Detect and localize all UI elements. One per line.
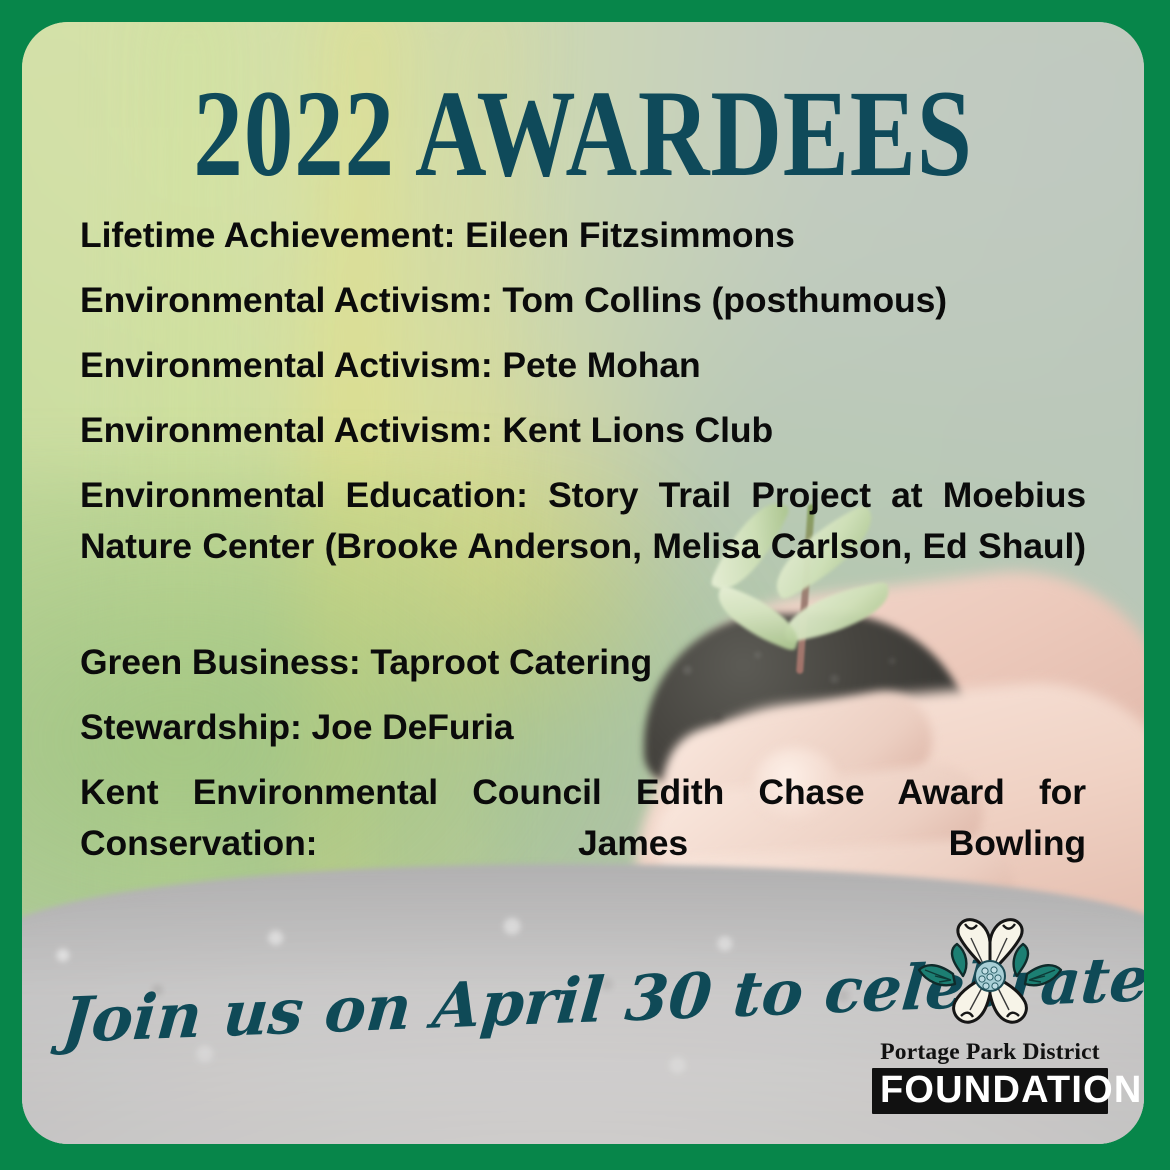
foundation-logo: Portage Park District FOUNDATION <box>872 912 1108 1114</box>
poster-content: 2022 AWARDEES Lifetime Achievement: Eile… <box>22 22 1144 1144</box>
list-item: Kent Environmental Council Edith Chase A… <box>80 767 1086 920</box>
photo-card: 2022 AWARDEES Lifetime Achievement: Eile… <box>22 22 1144 1144</box>
logo-foundation-text: FOUNDATION <box>880 1071 1100 1109</box>
dogwood-flower-icon <box>915 912 1065 1038</box>
list-item: Environmental Activism: Tom Collins (pos… <box>80 275 1086 326</box>
logo-organization-name: Portage Park District <box>872 1040 1108 1065</box>
list-item: Green Business: Taproot Catering <box>80 637 1086 688</box>
logo-foundation-bar: FOUNDATION <box>872 1068 1108 1114</box>
list-item: Stewardship: Joe DeFuria <box>80 702 1086 753</box>
awardees-poster: 2022 AWARDEES Lifetime Achievement: Eile… <box>0 0 1170 1170</box>
awardee-list: Lifetime Achievement: Eileen Fitzsimmons… <box>80 210 1086 934</box>
list-item: Lifetime Achievement: Eileen Fitzsimmons <box>80 210 1086 261</box>
list-item: Environmental Activism: Pete Mohan <box>80 340 1086 391</box>
page-title: 2022 AWARDEES <box>134 72 1032 196</box>
list-item: Environmental Activism: Kent Lions Club <box>80 405 1086 456</box>
list-item: Environmental Education: Story Trail Pro… <box>80 470 1086 623</box>
